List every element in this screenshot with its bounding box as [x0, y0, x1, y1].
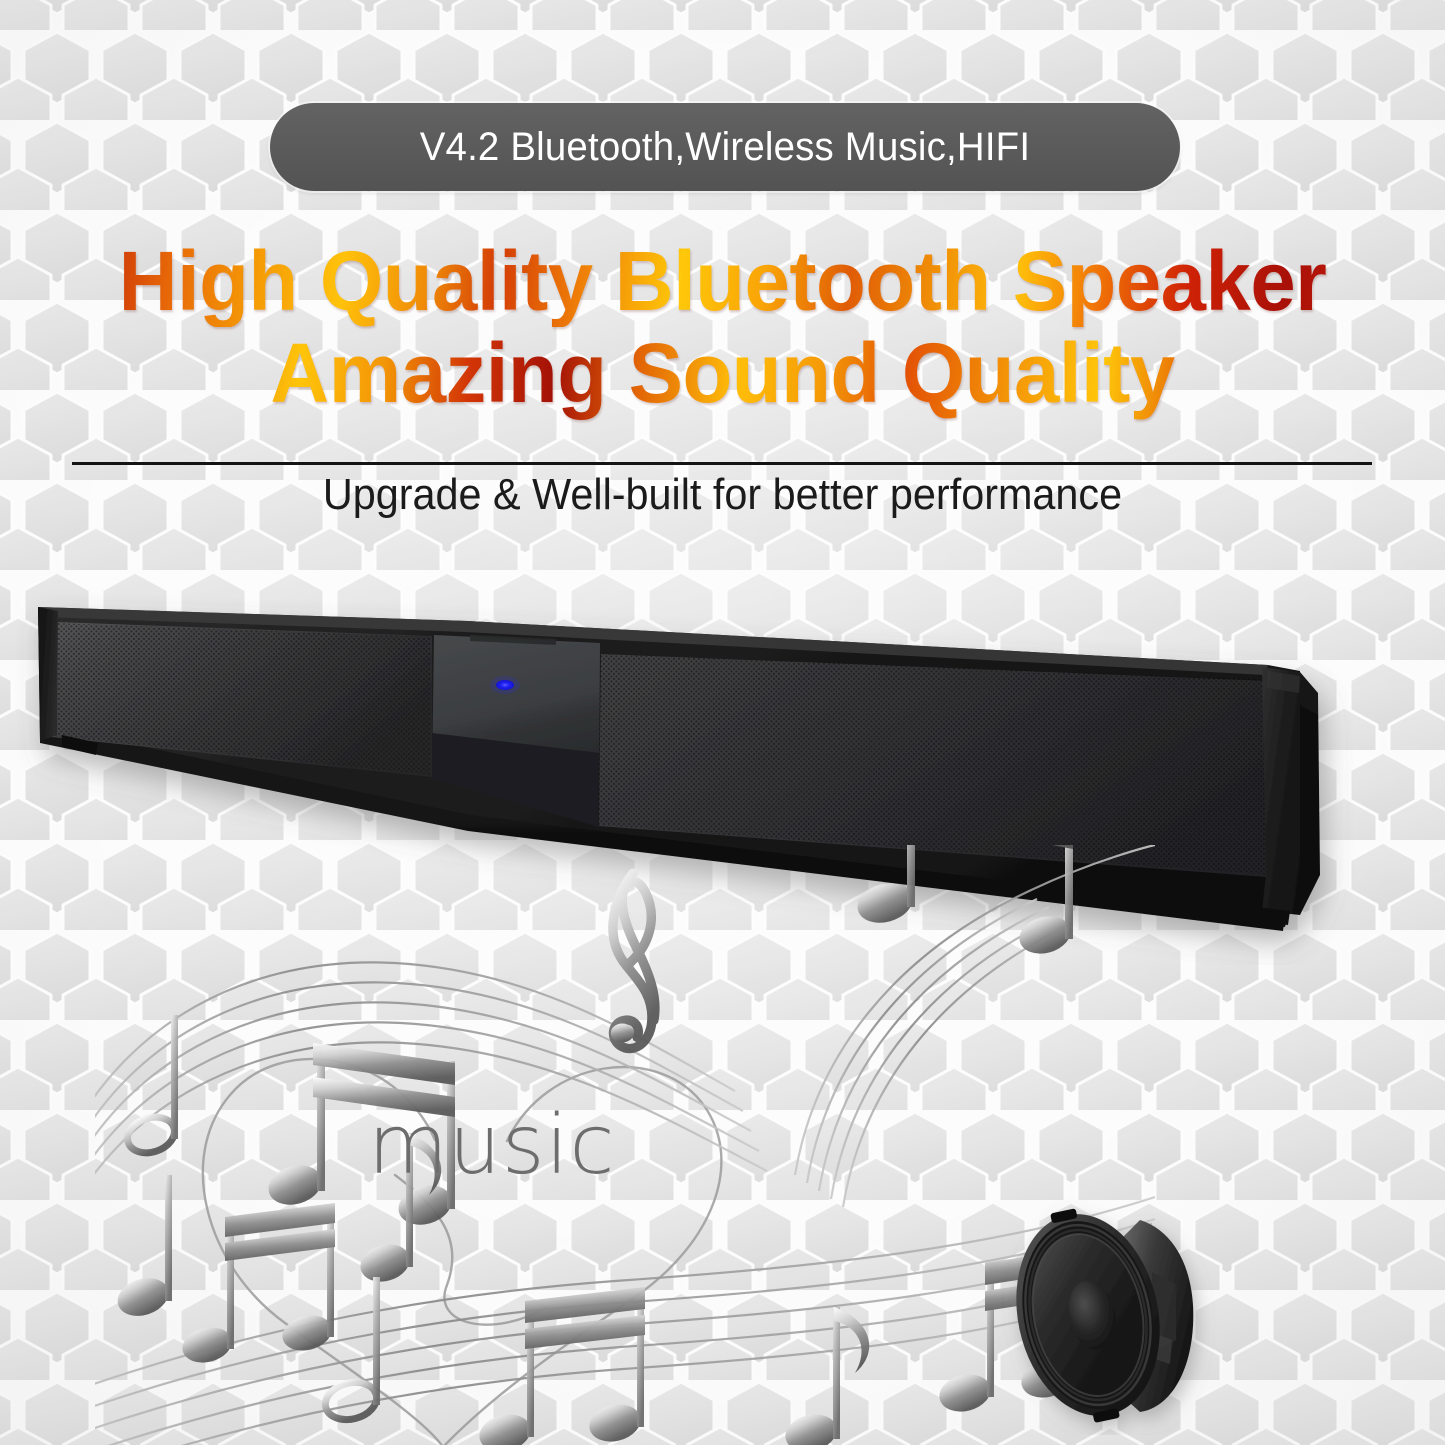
- speaker-driver-body: [1000, 1196, 1193, 1434]
- speaker-driver-image: [1000, 1180, 1240, 1435]
- product-marketing-image: V4.2 Bluetooth,Wireless Music,HIFI High …: [0, 0, 1445, 1445]
- headline-line-2: Amazing Sound Quality: [22, 327, 1424, 419]
- beamed-notes-bottom-left: [179, 1203, 336, 1368]
- feature-banner: V4.2 Bluetooth,Wireless Music,HIFI: [270, 103, 1180, 191]
- music-notes-graphic: [95, 845, 1155, 1445]
- treble-clef-icon: [611, 873, 655, 1048]
- feature-banner-text: V4.2 Bluetooth,Wireless Music,HIFI: [420, 125, 1030, 170]
- music-word-text: music: [368, 1098, 615, 1193]
- headline-line-1: High Quality Bluetooth Speaker: [22, 235, 1424, 327]
- beamed-notes-bottom-center: [475, 1287, 645, 1445]
- soundbar-end-cap-left: [38, 607, 58, 741]
- speaker-driver-svg: [1000, 1180, 1240, 1435]
- end-cap-right-shadow: [1300, 705, 1318, 880]
- power-led-glow: [490, 676, 520, 694]
- headline-block: High Quality Bluetooth Speaker Amazing S…: [0, 235, 1445, 420]
- headline-divider: [72, 462, 1372, 465]
- staff-swirl-upper-right: [795, 845, 1155, 1207]
- eighth-note-bottom-right-center: [781, 1307, 869, 1445]
- music-notes-svg: [95, 845, 1155, 1445]
- single-note-left: [113, 1175, 174, 1322]
- subtitle-text: Upgrade & Well-built for better performa…: [43, 470, 1401, 520]
